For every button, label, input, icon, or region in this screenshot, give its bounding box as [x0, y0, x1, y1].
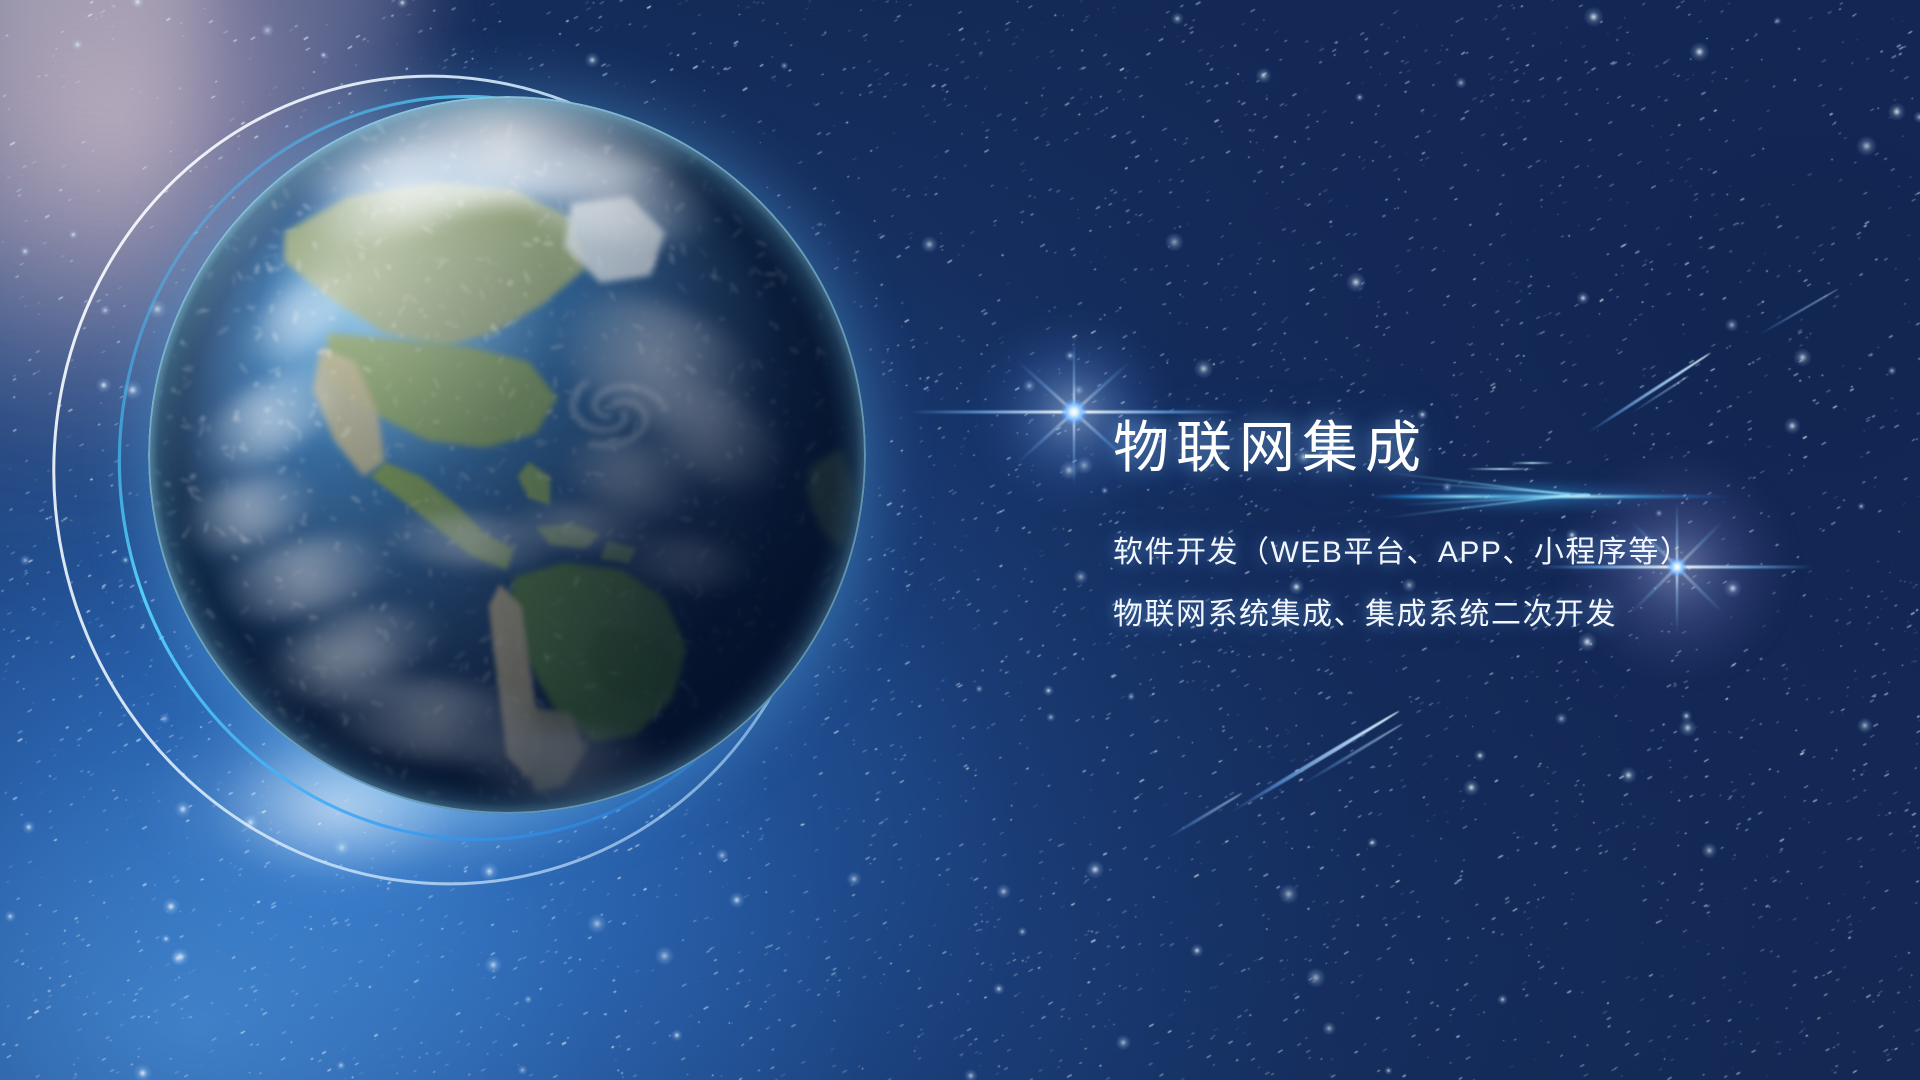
earth-globe [148, 96, 866, 814]
hero-copy: 物联网集成 软件开发（WEB平台、APP、小程序等） 物联网系统集成、集成系统二… [1113, 418, 1813, 630]
globe-texture [148, 96, 866, 814]
subtitle-line-2: 物联网系统集成、集成系统二次开发 [1113, 600, 1813, 630]
globe-sphere [148, 96, 866, 814]
page-title: 物联网集成 [1113, 418, 1813, 478]
hero-banner: 物联网集成 软件开发（WEB平台、APP、小程序等） 物联网系统集成、集成系统二… [0, 0, 1920, 1080]
subtitle-line-1: 软件开发（WEB平台、APP、小程序等） [1113, 538, 1813, 568]
